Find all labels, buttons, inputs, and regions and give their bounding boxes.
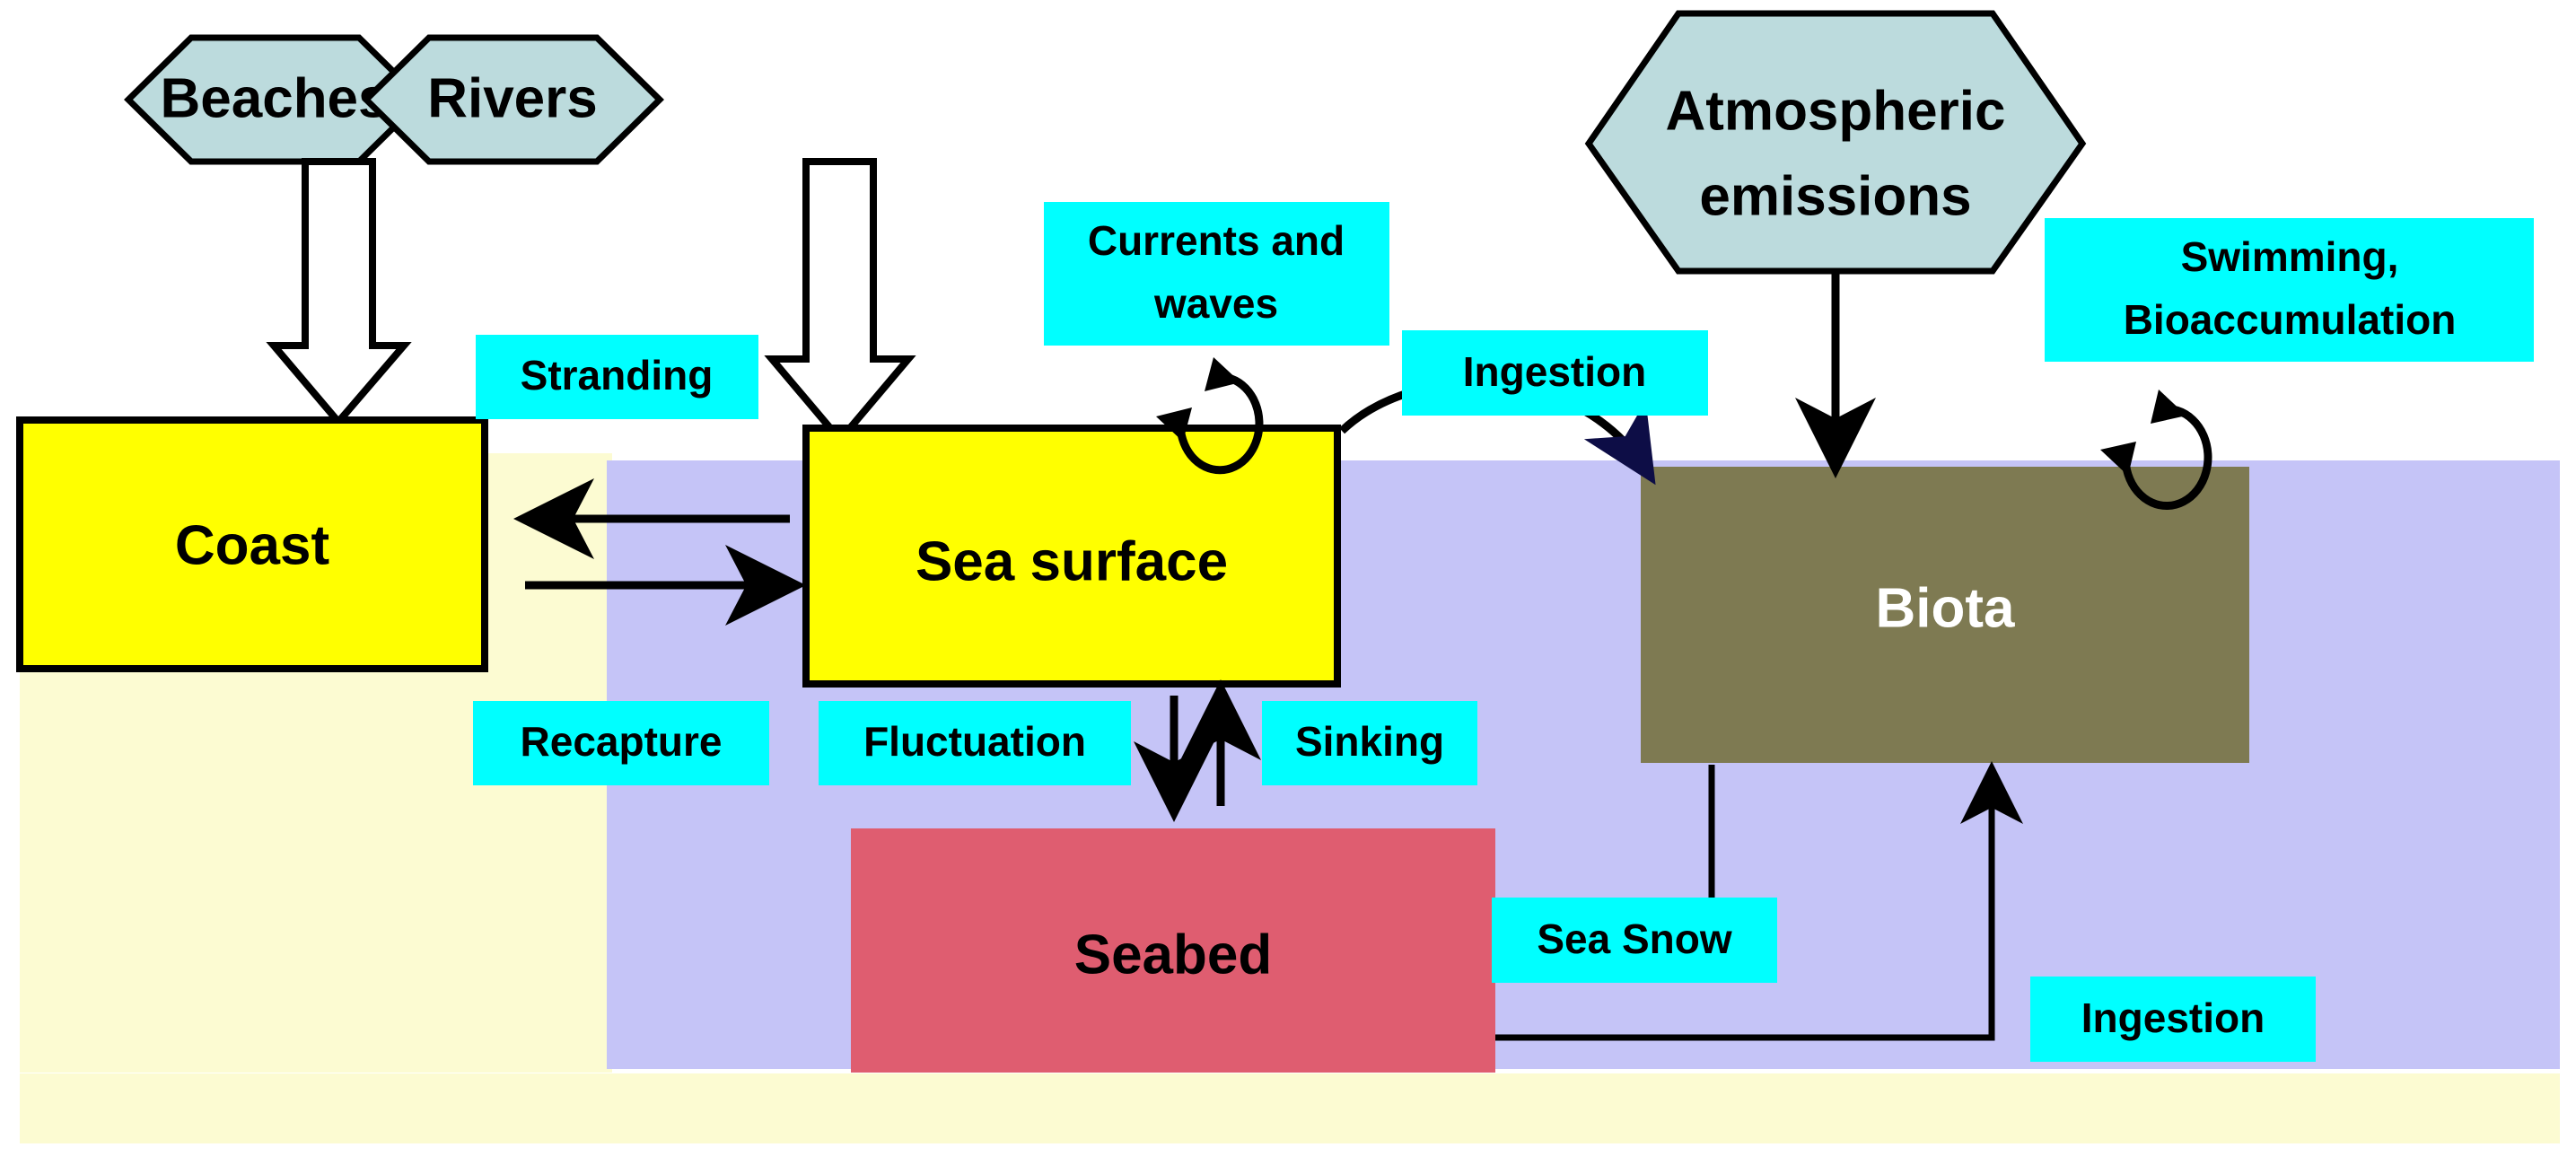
hexagon-beaches-label: Beaches	[160, 67, 389, 129]
hexagon-atmospheric-emissions-label-line1: Atmospheric	[1666, 80, 2006, 142]
box-sea-surface-label: Sea surface	[916, 530, 1228, 592]
label-sea-snow-text: Sea Snow	[1537, 915, 1732, 962]
label-currents-and-waves-line2: waves	[1153, 280, 1278, 327]
block-arrow-rivers-to-sea-surface	[772, 162, 908, 440]
box-seabed[interactable]: Seabed	[851, 828, 1495, 1073]
label-ingestion-surface-biota: Ingestion	[1402, 330, 1708, 416]
box-coast[interactable]: Coast	[20, 420, 485, 669]
block-arrow-beaches-to-coast	[274, 162, 404, 422]
label-swimming-bioaccumulation: Swimming, Bioaccumulation	[2045, 218, 2534, 362]
box-biota-label: Biota	[1876, 577, 2016, 639]
hexagon-atmospheric-emissions[interactable]: Atmospheric emissions	[1589, 13, 2082, 271]
label-recapture-text: Recapture	[521, 718, 723, 765]
label-currents-and-waves-line1: Currents and	[1088, 217, 1345, 264]
hexagon-rivers[interactable]: Rivers	[366, 38, 660, 162]
label-stranding-text: Stranding	[521, 352, 714, 399]
label-ingestion-seabed-biota: Ingestion	[2030, 977, 2316, 1062]
label-stranding: Stranding	[476, 335, 758, 419]
label-fluctuation-text: Fluctuation	[863, 718, 1086, 765]
box-biota[interactable]: Biota	[1641, 467, 2249, 763]
diagram-canvas: Beaches Rivers Atmospheric emissions Coa…	[0, 0, 2576, 1165]
label-sinking-text: Sinking	[1295, 718, 1444, 765]
label-swimming-bioaccumulation-line1: Swimming,	[2181, 233, 2399, 280]
label-ingestion-seabed-biota-text: Ingestion	[2081, 994, 2265, 1041]
label-sea-snow: Sea Snow	[1492, 898, 1777, 983]
hexagon-rivers-label: Rivers	[427, 67, 598, 129]
label-fluctuation: Fluctuation	[819, 701, 1131, 785]
diagram-svg: Beaches Rivers Atmospheric emissions Coa…	[0, 0, 2576, 1165]
hexagon-atmospheric-emissions-shape	[1589, 13, 2082, 271]
box-coast-label: Coast	[175, 514, 329, 576]
label-currents-and-waves: Currents and waves	[1044, 202, 1389, 346]
label-sinking: Sinking	[1262, 701, 1477, 785]
box-seabed-label: Seabed	[1074, 924, 1273, 985]
box-sea-surface[interactable]: Sea surface	[806, 428, 1337, 684]
label-recapture: Recapture	[473, 701, 769, 785]
hexagon-atmospheric-emissions-label-line2: emissions	[1699, 165, 1971, 227]
sand-lower-layer	[20, 1073, 2560, 1143]
label-swimming-bioaccumulation-line2: Bioaccumulation	[2124, 296, 2457, 343]
label-ingestion-surface-biota-text: Ingestion	[1463, 348, 1646, 395]
